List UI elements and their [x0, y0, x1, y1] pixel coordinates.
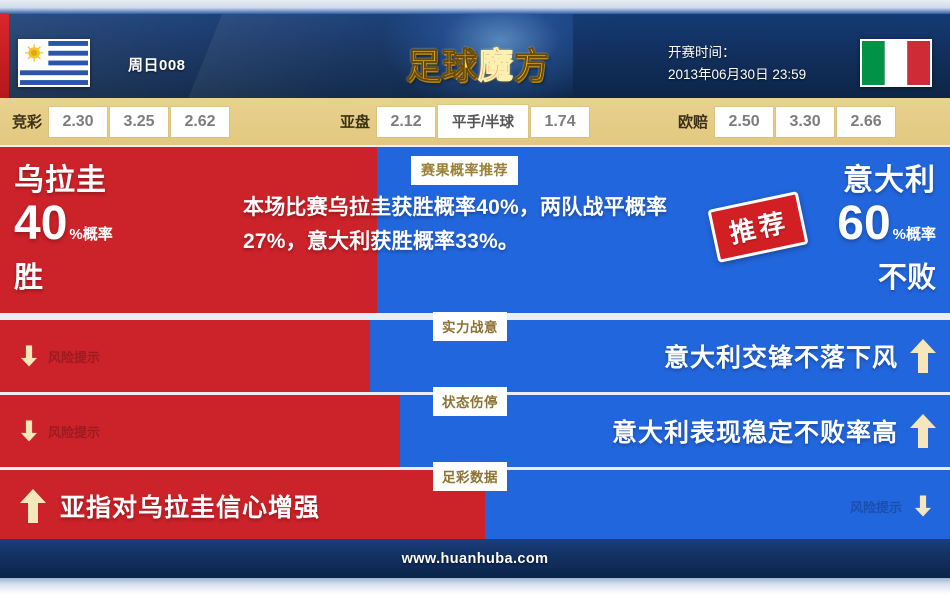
kickoff-time: 开赛时间： 2013年06月30日 23:59: [668, 42, 806, 86]
odds-group-jingcai: 竞彩 2.30 3.25 2.62: [12, 107, 232, 137]
comparison-row-2: 风险提示 意大利表现稳定不败率高 状态伤停: [0, 395, 950, 467]
kickoff-label: 开赛时间：: [668, 42, 806, 64]
arrow-down-icon: [915, 495, 931, 516]
home-outcome: 胜: [14, 260, 113, 296]
home-team-prediction: 乌拉圭 40%概率 胜: [14, 163, 113, 296]
match-number: 周日008: [128, 54, 186, 75]
arrow-up-icon: [20, 489, 46, 523]
odds-label-yapan: 亚盘: [340, 111, 370, 132]
logo-suffix: 方: [514, 47, 550, 86]
match-header: 周日008 足球魔方 开赛时间： 2013年06月30日 23:59: [0, 14, 950, 98]
header-accent-bar: [0, 14, 9, 98]
row-2-home-text: 风险提示: [48, 422, 100, 441]
odds-group-yapan: 亚盘 2.12 平手/半球 1.74: [340, 105, 592, 138]
site-url[interactable]: www.huanhuba.com: [402, 551, 549, 567]
arrow-down-icon: [21, 420, 37, 441]
odds-cell-jingcai-home[interactable]: 2.30: [49, 107, 107, 137]
odds-cell-yapan-handicap[interactable]: 平手/半球: [438, 105, 528, 138]
home-probability-value: 40: [14, 197, 67, 250]
odds-bar: 竞彩 2.30 3.25 2.62 亚盘 2.12 平手/半球 1.74 欧赔 …: [0, 98, 950, 145]
row-3-home-text: 亚指对乌拉圭信心增强: [60, 488, 320, 524]
home-team-name: 乌拉圭: [14, 163, 113, 199]
main-panel-tag: 赛果概率推荐: [411, 156, 518, 185]
logo-prefix: 足球: [406, 47, 478, 86]
row-3-away-text: 风险提示: [850, 497, 902, 516]
italy-flag: [860, 39, 932, 87]
arrow-down-icon: [21, 345, 37, 366]
odds-cell-yapan-away[interactable]: 1.74: [531, 107, 589, 137]
row-3-away-side: 风险提示: [485, 470, 950, 542]
row-2-away-text: 意大利表现稳定不败率高: [612, 413, 898, 449]
away-outcome: 不败: [837, 260, 936, 296]
odds-cell-jingcai-draw[interactable]: 3.25: [110, 107, 168, 137]
away-team-name: 意大利: [837, 163, 936, 199]
odds-group-oupei: 欧赔 2.50 3.30 2.66: [678, 107, 898, 137]
top-light-strip: [0, 0, 950, 14]
odds-cell-yapan-home[interactable]: 2.12: [377, 107, 435, 137]
row-1-away-text: 意大利交锋不落下风: [664, 338, 898, 374]
main-prediction-description: 本场比赛乌拉圭获胜概率40%，两队战平概率27%，意大利获胜概率33%。: [243, 191, 675, 259]
footer-bar: www.huanhuba.com: [0, 539, 950, 578]
odds-cell-jingcai-away[interactable]: 2.62: [171, 107, 229, 137]
odds-cell-oupei-home[interactable]: 2.50: [715, 107, 773, 137]
comparison-row-3: 亚指对乌拉圭信心增强 风险提示 足彩数据: [0, 470, 950, 542]
away-probability-value: 60: [837, 197, 890, 250]
arrow-up-icon: [910, 339, 936, 373]
kickoff-value: 2013年06月30日 23:59: [668, 64, 806, 86]
away-probability-row: 60%概率: [837, 199, 936, 260]
row-3-home-side: 亚指对乌拉圭信心增强: [0, 470, 485, 542]
logo-magic: 魔: [478, 47, 514, 86]
row-2-home-side: 风险提示: [0, 395, 400, 467]
uruguay-flag: [18, 39, 90, 87]
prediction-graphic: 周日008 足球魔方 开赛时间： 2013年06月30日 23:59 竞彩 2.…: [0, 0, 950, 594]
away-team-prediction: 意大利 60%概率 不败: [837, 163, 936, 296]
home-probability-suffix: %概率: [69, 226, 112, 243]
odds-label-oupei: 欧赔: [678, 111, 708, 132]
arrow-up-icon: [910, 414, 936, 448]
row-1-home-side: 风险提示: [0, 320, 370, 392]
odds-cell-oupei-away[interactable]: 2.66: [837, 107, 895, 137]
home-probability-row: 40%概率: [14, 199, 113, 260]
row-1-tag: 实力战意: [433, 312, 507, 341]
odds-label-jingcai: 竞彩: [12, 111, 42, 132]
bottom-light-strip: [0, 578, 950, 594]
row-3-tag: 足彩数据: [433, 462, 507, 491]
odds-cell-oupei-draw[interactable]: 3.30: [776, 107, 834, 137]
site-logo: 足球魔方: [398, 30, 558, 92]
comparison-row-1: 风险提示 意大利交锋不落下风 实力战意: [0, 320, 950, 392]
row-1-home-text: 风险提示: [48, 347, 100, 366]
logo-text: 足球魔方: [398, 38, 558, 89]
away-probability-suffix: %概率: [893, 226, 936, 243]
row-2-tag: 状态伤停: [433, 387, 507, 416]
